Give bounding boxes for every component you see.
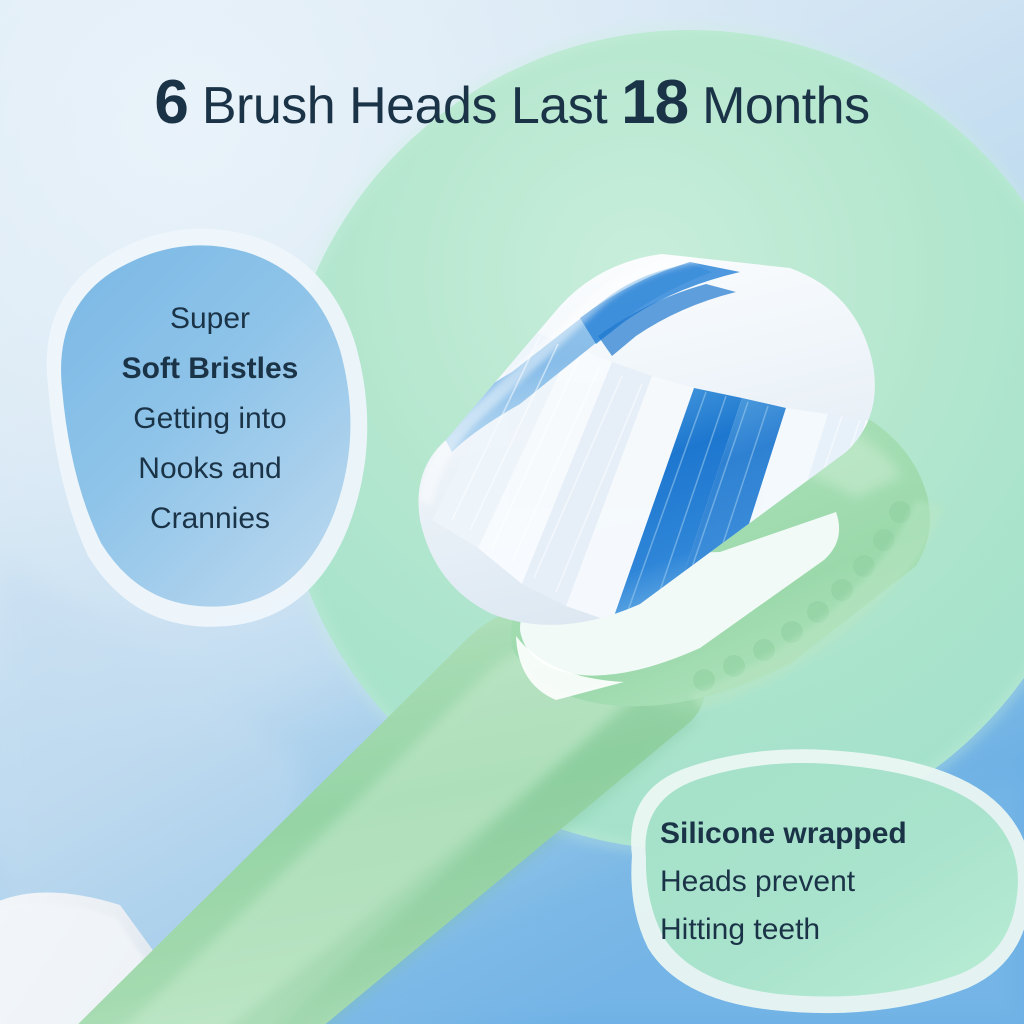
headline-count: 6 (154, 68, 187, 137)
page-title: 6 Brush Heads Last 18 Months (0, 72, 1024, 137)
callout-silicone-wrapped: Silicone wrapped Heads prevent Hitting t… (660, 810, 990, 954)
callout-line: Nooks and (60, 444, 360, 494)
callout-line: Heads prevent (660, 858, 990, 906)
callout-line: Super (60, 294, 360, 344)
callout-line: Getting into (60, 394, 360, 444)
callout-line: Silicone wrapped (660, 810, 990, 858)
headline-duration: 18 (621, 68, 688, 137)
headline-text-b: Months (702, 77, 870, 135)
callout-line: Crannies (60, 494, 360, 544)
callout-soft-bristles: Super Soft Bristles Getting into Nooks a… (60, 294, 360, 544)
callout-line: Hitting teeth (660, 906, 990, 954)
product-feature-poster: 6 Brush Heads Last 18 Months Super Soft … (0, 0, 1024, 1024)
headline-text-a: Brush Heads Last (202, 77, 607, 135)
callout-line: Soft Bristles (60, 344, 360, 394)
